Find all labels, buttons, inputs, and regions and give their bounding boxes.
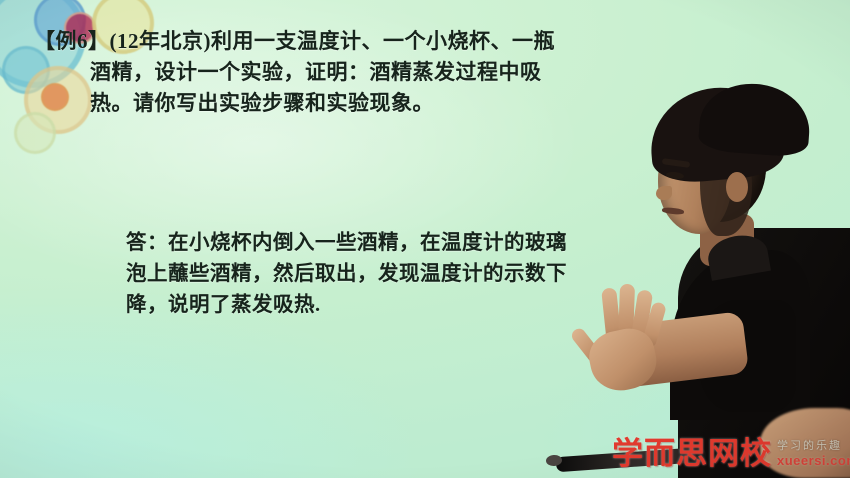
answer-text-block: 答：在小烧杯内倒入一些酒精，在温度计的玻璃 泡上蘸些酒精，然后取出，发现温度计的… xyxy=(126,228,567,321)
watermark-logo: 学而思网校 学习的乐趣 xueersi.com xyxy=(612,437,850,470)
lecture-video-frame: 【例6】(12年北京)利用一支温度计、一个小烧杯、一瓶 酒精，设计一个实验，证明… xyxy=(0,0,850,478)
answer-line-1: 答：在小烧杯内倒入一些酒精，在温度计的玻璃 xyxy=(126,228,567,259)
watermark-brand: 学而思网校 xyxy=(612,438,772,470)
watermark-url: xueersi.com xyxy=(777,453,850,468)
answer-line-3: 降，说明了蒸发吸热. xyxy=(126,290,567,321)
question-line-1: 【例6】(12年北京)利用一支温度计、一个小烧杯、一瓶 xyxy=(34,26,555,57)
question-line-3: 热。请你写出实验步骤和实验现象。 xyxy=(34,88,555,119)
teacher-ear xyxy=(726,172,748,202)
watermark-slogan: 学习的乐趣 xyxy=(777,437,842,453)
question-text-block: 【例6】(12年北京)利用一支温度计、一个小烧杯、一瓶 酒精，设计一个实验，证明… xyxy=(34,26,555,119)
teacher-figure xyxy=(550,0,850,478)
question-line-2: 酒精，设计一个实验，证明：酒精蒸发过程中吸 xyxy=(34,57,555,88)
teacher-pointing-hand xyxy=(574,282,660,388)
watermark-sidetext: 学习的乐趣 xueersi.com xyxy=(777,437,850,470)
teacher-nose xyxy=(656,186,672,200)
answer-line-2: 泡上蘸些酒精，然后取出，发现温度计的示数下 xyxy=(126,259,567,290)
